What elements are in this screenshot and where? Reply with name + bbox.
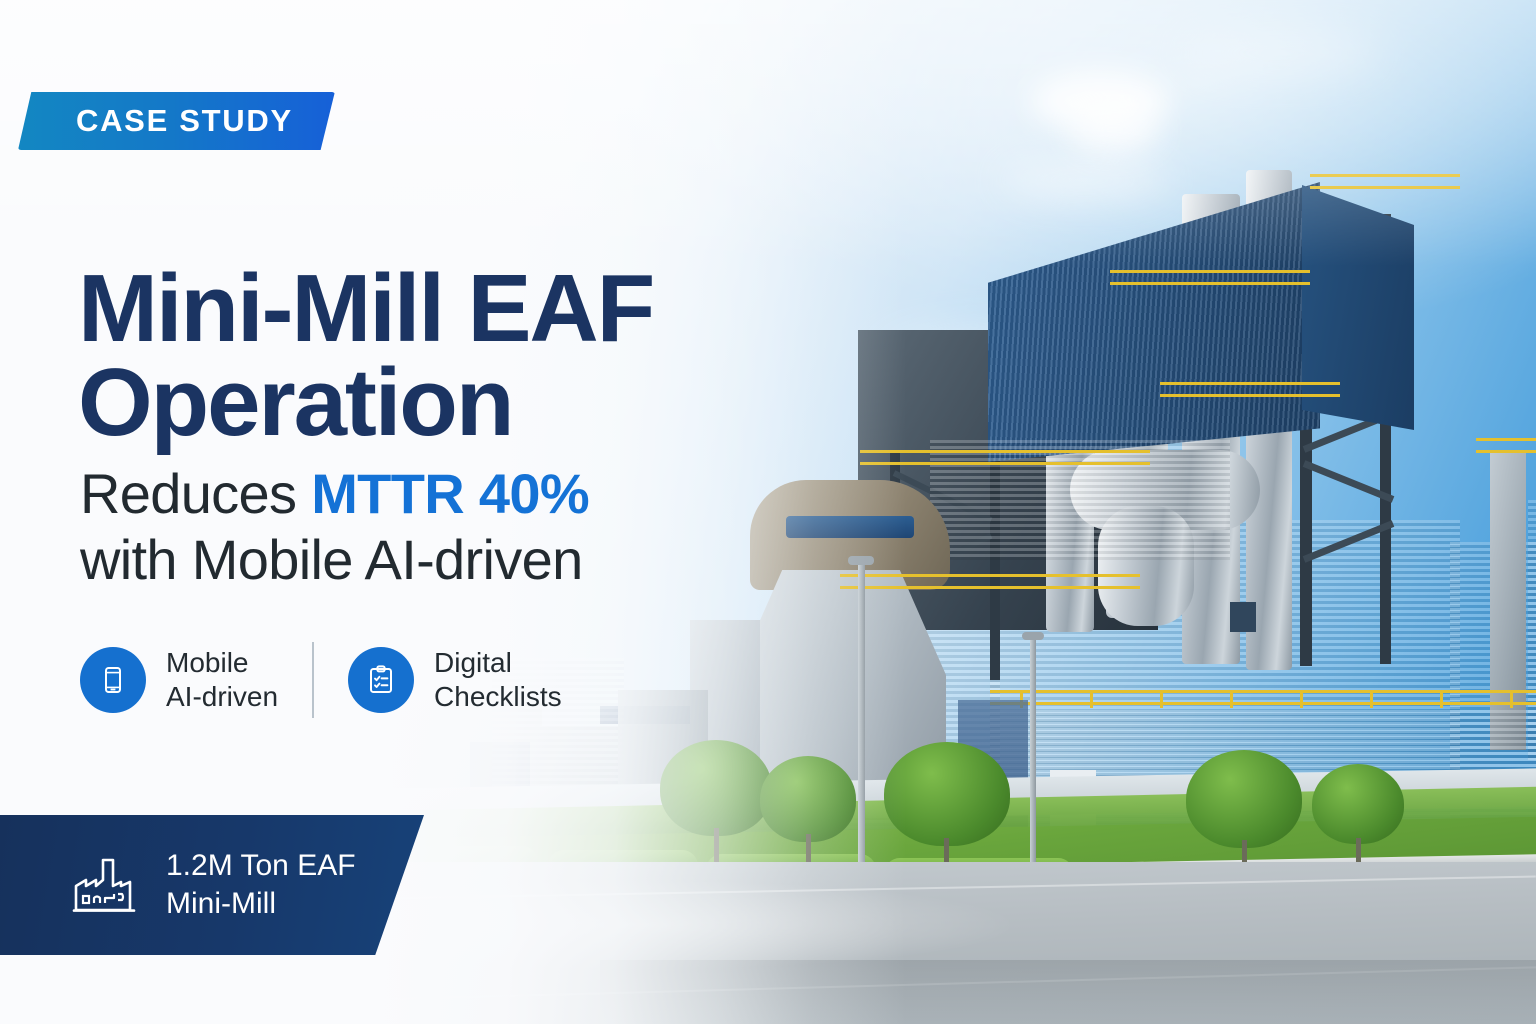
feature-mobile-ai: Mobile AI-driven xyxy=(80,646,278,714)
case-study-poster: CASE STUDY Mini-Mill EAF Operation Reduc… xyxy=(0,0,1536,1024)
stat-ribbon-label: 1.2M Ton EAF Mini-Mill xyxy=(166,847,356,923)
title-line-1: Mini-Mill EAF xyxy=(78,255,653,362)
feature-label-line-1: Digital xyxy=(434,647,512,678)
stat-ribbon: 1.2M Ton EAF Mini-Mill xyxy=(0,815,424,955)
title-line-2: Operation xyxy=(78,356,898,450)
subtitle-line-2: with Mobile AI-driven xyxy=(80,527,840,593)
stat-ribbon-line-1: 1.2M Ton EAF xyxy=(166,849,356,882)
stat-ribbon-line-2: Mini-Mill xyxy=(166,885,356,923)
feature-digital-checklists: Digital Checklists xyxy=(348,646,562,714)
feature-label: Mobile AI-driven xyxy=(166,646,278,714)
mobile-phone-icon xyxy=(97,664,129,696)
feature-divider xyxy=(312,642,314,718)
poster-content: CASE STUDY Mini-Mill EAF Operation Reduc… xyxy=(0,0,1536,1024)
feature-list: Mobile AI-driven xyxy=(80,642,562,718)
feature-icon-circle xyxy=(348,647,414,713)
feature-label-line-2: Checklists xyxy=(434,680,562,714)
case-study-badge: CASE STUDY xyxy=(18,92,335,150)
subtitle-highlight: MTTR 40% xyxy=(311,462,589,525)
feature-label-line-1: Mobile xyxy=(166,647,248,678)
page-title: Mini-Mill EAF Operation xyxy=(78,262,898,450)
subtitle-prefix: Reduces xyxy=(80,462,311,525)
case-study-badge-label: CASE STUDY xyxy=(76,103,293,139)
clipboard-checklist-icon xyxy=(364,663,398,697)
feature-label: Digital Checklists xyxy=(434,646,562,714)
feature-icon-circle xyxy=(80,647,146,713)
factory-icon xyxy=(72,856,138,914)
subtitle: Reduces MTTR 40% with Mobile AI-driven xyxy=(80,461,840,593)
feature-label-line-2: AI-driven xyxy=(166,680,278,714)
